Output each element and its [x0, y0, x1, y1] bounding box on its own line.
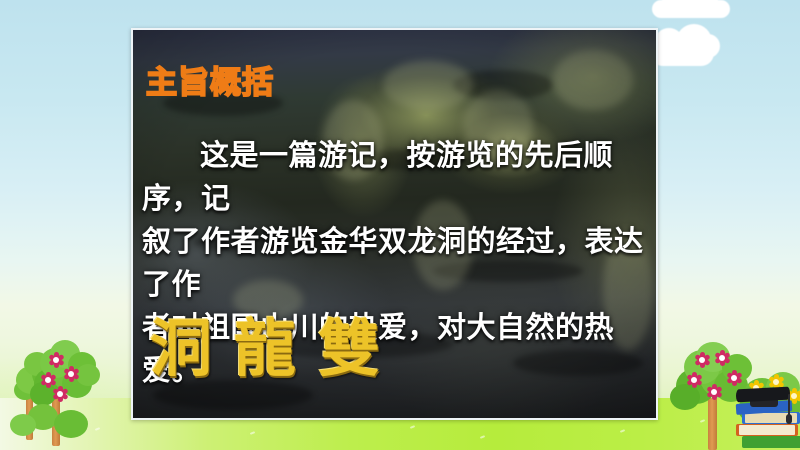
summary-line-2: 叙了作者游览金华双龙洞的经过，表达了作 — [142, 220, 650, 306]
flower-icon — [52, 386, 68, 402]
flower-icon — [686, 372, 702, 388]
flower-icon — [63, 366, 79, 382]
cloud-icon-top-right — [652, 0, 730, 18]
flower-icon — [714, 350, 730, 366]
presentation-slide: 主旨概括 这是一篇游记，按游览的先后顺序，记 叙了作者游览金华双龙洞的经过，表达… — [0, 0, 800, 450]
flower-icon — [726, 370, 742, 386]
flower-icon — [48, 352, 64, 368]
rock-carving-text: 洞龍雙 — [150, 298, 402, 388]
cloud-icon-right — [650, 40, 714, 66]
summary-line-1: 这是一篇游记，按游览的先后顺序，记 — [142, 134, 650, 220]
flower-icon — [706, 384, 722, 400]
flower-icon — [694, 352, 710, 368]
page-title: 主旨概括 — [146, 57, 274, 102]
